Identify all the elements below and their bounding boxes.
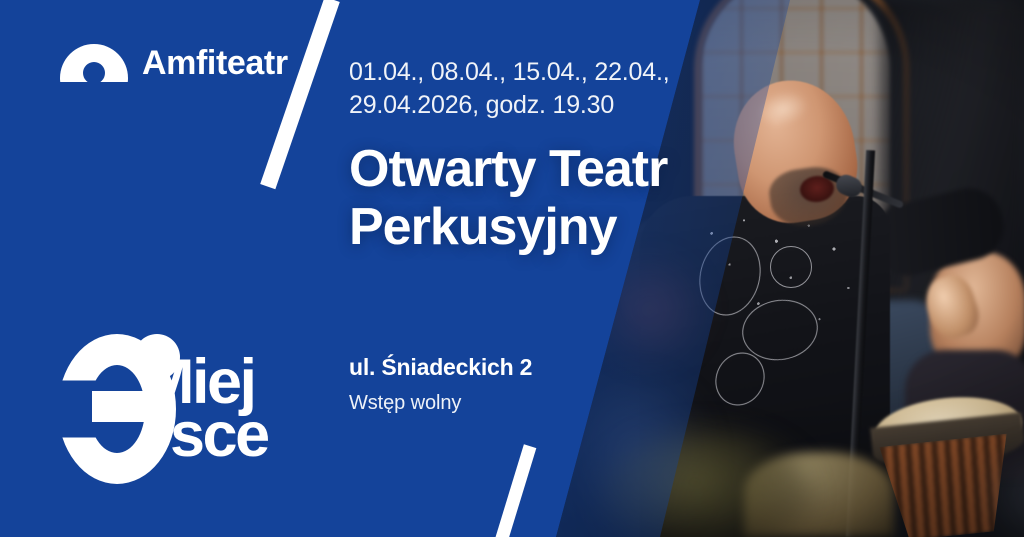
trzecie-miejsce-logo[interactable]: Miej sce [56,328,306,490]
event-title-line-2: Perkusyjny [349,198,749,256]
event-admission: Wstęp wolny [349,392,461,415]
event-address: ul. Śniadeckich 2 [349,354,532,381]
miejsce-wordmark: Miej sce [142,356,268,462]
amfiteatr-wordmark: Amfiteatr [142,46,288,80]
event-title: Otwarty Teatr Perkusyjny [349,140,749,256]
event-title-line-1: Otwarty Teatr [349,140,749,198]
event-promo-banner: Amfiteatr 01.04., 08.04., 15.04., 22.04.… [0,0,1024,537]
amphitheatre-dome-notch [83,62,105,82]
event-dates: 01.04., 08.04., 15.04., 22.04., 29.04.20… [349,56,679,122]
amfiteatr-logo[interactable]: Amfiteatr [60,44,288,82]
amphitheatre-dome-icon [60,44,128,82]
